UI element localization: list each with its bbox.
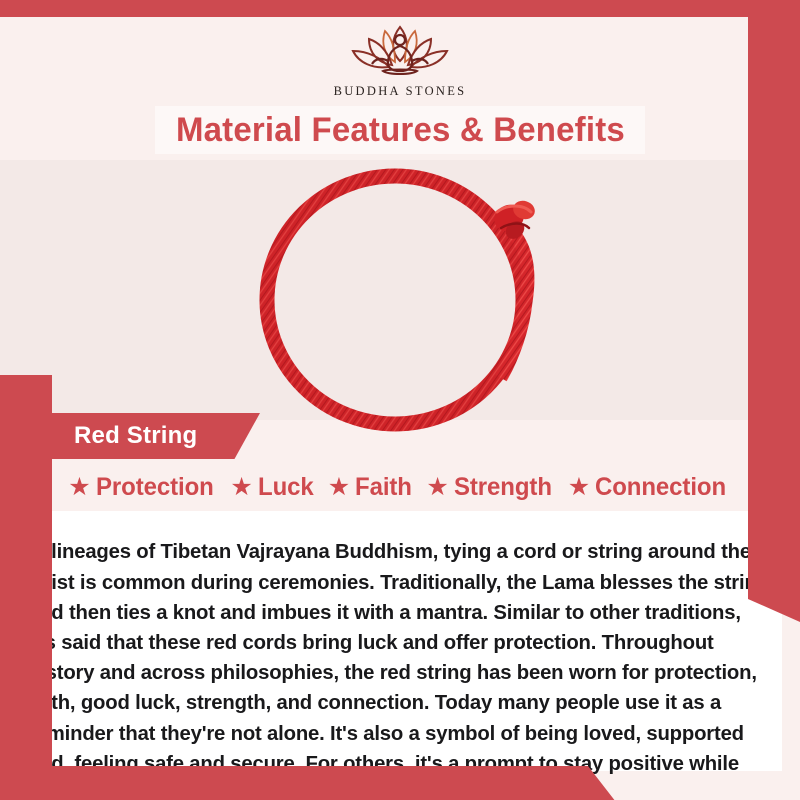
description-panel: In lineages of Tibetan Vajrayana Buddhis… — [18, 511, 782, 771]
feature-label: Strength — [454, 473, 552, 502]
product-photo-area — [0, 160, 800, 420]
brand-logo: BUDDHA STONES — [315, 17, 485, 99]
description-text: In lineages of Tibetan Vajrayana Buddhis… — [18, 531, 782, 800]
title-banner: Material Features & Benefits — [155, 106, 645, 154]
right-accent-bar — [748, 0, 800, 622]
star-icon: ★ — [68, 475, 90, 500]
red-string-bracelet-image — [0, 160, 800, 420]
page-title: Material Features & Benefits — [176, 111, 625, 150]
feature-label: Faith — [355, 473, 412, 502]
product-name-label: Red String — [28, 422, 197, 450]
top-accent-bar — [0, 0, 800, 17]
star-icon: ★ — [328, 475, 350, 500]
feature-list: ★ Protection ★ Luck ★ Faith ★ Strength ★… — [0, 463, 800, 511]
star-icon: ★ — [230, 475, 252, 500]
star-icon: ★ — [568, 475, 590, 500]
star-icon: ★ — [426, 475, 448, 500]
feature-label: Luck — [258, 473, 314, 502]
feature-label: Connection — [595, 473, 726, 502]
infographic-page: BUDDHA STONES Material Features & Benefi… — [0, 0, 800, 800]
feature-item-connection: ★ Connection — [568, 473, 732, 502]
feature-item-protection: ★ Protection — [68, 473, 218, 502]
feature-item-faith: ★ Faith — [328, 473, 415, 502]
product-name-ribbon: Red String — [28, 413, 260, 459]
lotus-meditation-figure-icon — [315, 17, 485, 83]
feature-label: Protection — [96, 473, 214, 502]
feature-item-luck: ★ Luck — [230, 473, 315, 502]
feature-item-strength: ★ Strength — [426, 473, 555, 502]
brand-name: BUDDHA STONES — [315, 84, 485, 99]
